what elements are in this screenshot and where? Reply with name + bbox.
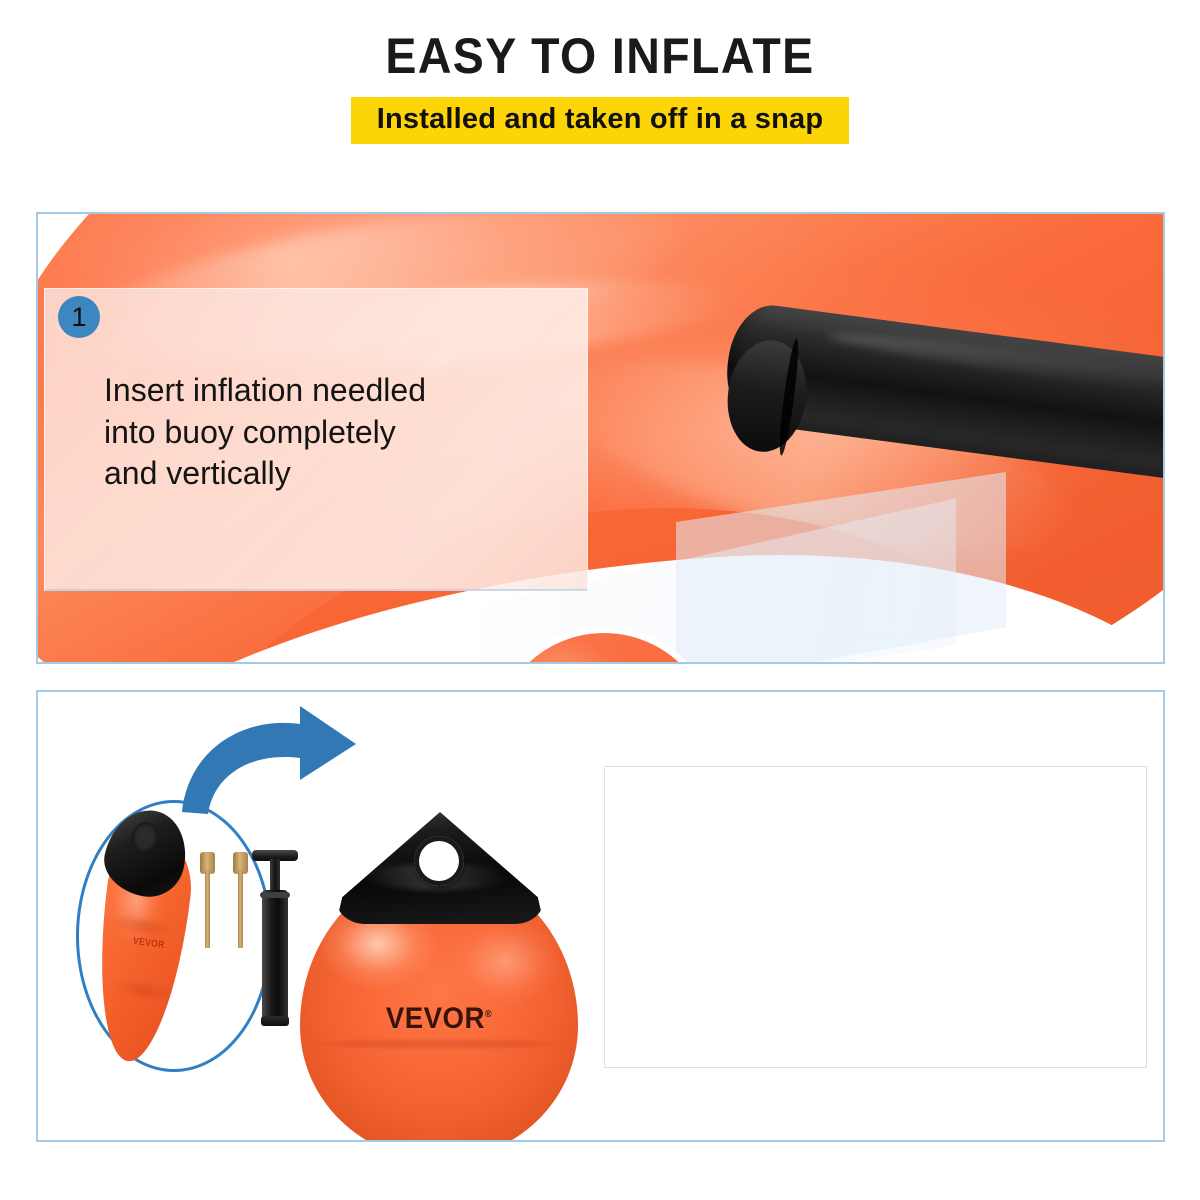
brand-logo: VEVOR® xyxy=(311,1002,567,1036)
subtitle-banner: Installed and taken off in a snap xyxy=(351,97,850,145)
hand-pump-shaft xyxy=(270,859,280,893)
registered-mark: ® xyxy=(485,1009,492,1020)
step-1-text: Insert inflation needled into buoy compl… xyxy=(104,370,426,495)
header: EASY TO INFLATE Installed and taken off … xyxy=(0,0,1200,144)
hand-pump-body xyxy=(262,890,288,1022)
hand-pump-collar xyxy=(260,892,290,898)
buoy-rope-hole xyxy=(414,836,464,886)
inflated-buoy: VEVOR® xyxy=(300,812,578,1112)
subtitle-container: Installed and taken off in a snap xyxy=(0,97,1200,145)
buoy-seam xyxy=(306,1040,572,1048)
brand-logo-text: VEVOR xyxy=(386,1002,485,1035)
curved-arrow-icon xyxy=(178,700,378,820)
hand-pump-foot xyxy=(261,1016,289,1026)
step-2-text-card xyxy=(604,766,1147,1068)
step-1-content: 1 Insert inflation needled into buoy com… xyxy=(58,296,426,495)
inflation-needle xyxy=(238,870,243,948)
page-title: EASY TO INFLATE xyxy=(42,30,1158,83)
step-badge-1: 1 xyxy=(58,296,100,338)
inflation-needle xyxy=(205,870,210,948)
